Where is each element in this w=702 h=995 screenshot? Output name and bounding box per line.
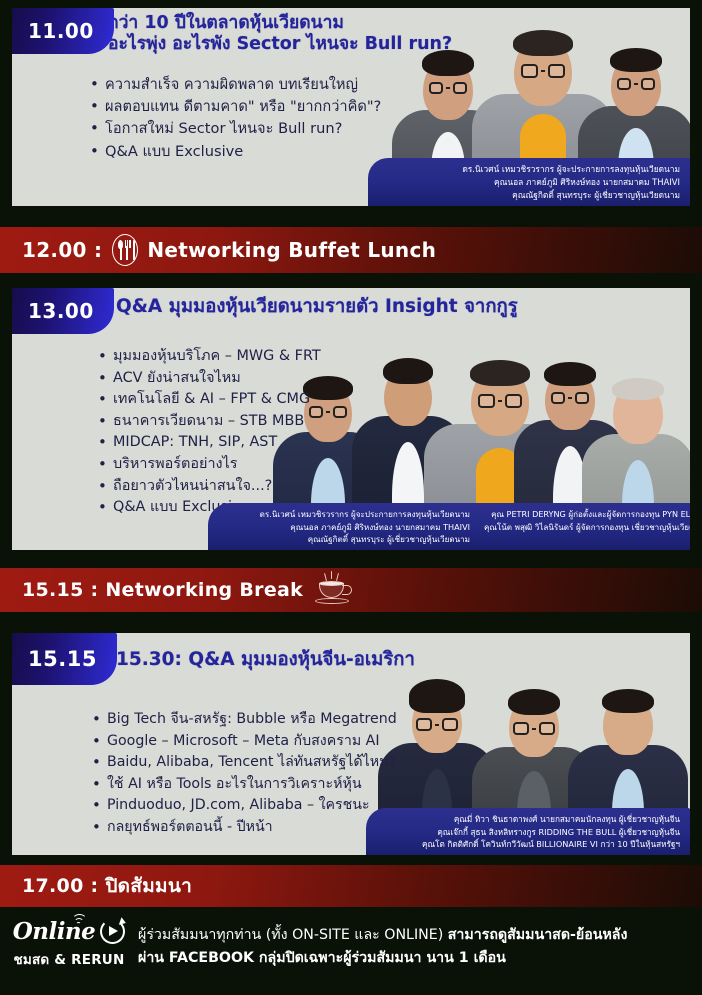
- bullet-item: โอกาสใหม่ Sector ไหนจะ Bull run?: [90, 118, 381, 140]
- credit-line: คุณ PETRI DERYNG ผู้ก่อตั้งและผู้จัดการก…: [484, 508, 690, 521]
- credits-column-left: ดร.นิเวศน์ เหมวชิรวรากร ผู้จะประกายการลง…: [234, 508, 484, 546]
- credit-line: ดร.นิเวศน์ เหมวชิรวรากร ผู้จะประกายการลง…: [396, 163, 680, 176]
- online-rerun-logo: Online ชมสด & RERUN: [0, 914, 138, 970]
- session-title-line2: อะไรพุ่ง อะไรพัง Sector ไหนจะ Bull run?: [108, 34, 452, 55]
- bullet-item: บริหารพอร์ตอย่างไร: [98, 454, 321, 476]
- bullet-item: ใช้ AI หรือ Tools อะไรในการวิเคราะห์หุ้น: [92, 774, 397, 796]
- bullet-item: Q&A แบบ Exclusive: [90, 141, 381, 163]
- closing-label: 17.00 : ปิดสัมมนา: [0, 871, 192, 901]
- coffee-cup-icon: [315, 573, 355, 607]
- session-title-line1: กว่า 10 ปีในตลาดหุ้นเวียดนาม: [108, 13, 452, 34]
- credit-line: คุณโน้ต พสุฒิ วิไลนิรันดร์ ผู้จัดการกองท…: [484, 521, 690, 534]
- credit-line: คุณนอล ภาคย์ภูมิ ศิริหงษ์ทอง นายกสมาคม T…: [396, 176, 680, 189]
- glasses-icon: [429, 82, 467, 94]
- footer: Online ชมสด & RERUN ผู้ร่วมสัมมนาทุกท่าน…: [0, 908, 702, 995]
- glasses-icon: [513, 722, 555, 735]
- bullet-item: Big Tech จีน-สหรัฐ: Bubble หรือ Megatren…: [92, 709, 397, 731]
- lunch-title: Networking Buffet Lunch: [147, 238, 436, 262]
- bullet-item: Pinduoduo, JD.com, Alibaba – ใครชนะ: [92, 795, 397, 817]
- break-bar-lunch: 12.00 : Networking Buffet Lunch: [0, 227, 702, 273]
- credit-line: คุณนอล ภาคย์ภูมิ ศิริหงษ์ทอง นายกสมาคม T…: [234, 521, 470, 534]
- credit-line: คุณเจ๊กกี้ สุธน สิงหลิทรางกูร RIDDING TH…: [394, 826, 680, 839]
- footer-line-1a: ผู้ร่วมสัมมนาทุกท่าน (ทั้ง ON-SITE และ O…: [138, 927, 448, 943]
- bullet-item: ความสำเร็จ ความผิดพลาด บทเรียนใหญ่: [90, 74, 381, 96]
- bullet-item: MIDCAP: TNH, SIP, AST: [98, 432, 321, 454]
- agenda-poster: 11.00 กว่า 10 ปีในตลาดหุ้นเวียดนาม อะไรพ…: [0, 0, 702, 995]
- session-bullets-1100: ความสำเร็จ ความผิดพลาด บทเรียนใหญ่ ผลตอบ…: [90, 74, 381, 163]
- session-card-1530: 15.15 15.30: Q&A มุมมองหุ้นจีน-อเมริกา B…: [12, 633, 690, 855]
- glasses-icon: [416, 718, 458, 731]
- play-rerun-icon: [100, 919, 125, 944]
- footer-line-2: ผ่าน FACEBOOK กลุ่มปิดเฉพาะผู้ร่วมสัมมนา…: [138, 947, 694, 970]
- wifi-icon: [74, 914, 90, 928]
- logo-row: Online: [0, 918, 138, 945]
- session-title-1300: Q&A มุมมองหุ้นเวียดนามรายตัว Insight จาก…: [116, 296, 518, 319]
- session-card-1100: 11.00 กว่า 10 ปีในตลาดหุ้นเวียดนาม อะไรพ…: [12, 8, 690, 206]
- session-title-1530: 15.30: Q&A มุมมองหุ้นจีน-อเมริกา: [116, 649, 415, 672]
- credits-column-right: คุณ PETRI DERYNG ผู้ก่อตั้งและผู้จัดการก…: [484, 508, 690, 546]
- bullet-item: Baidu, Alibaba, Tencent ไล่ทันสหรัฐได้ไห…: [92, 752, 397, 774]
- speaker-credits-1100: ดร.นิเวศน์ เหมวชิรวรากร ผู้จะประกายการลง…: [368, 158, 690, 206]
- footer-line-1b: สามารถดูสัมมนาสด-ย้อนหลัง: [448, 927, 628, 943]
- session-bullets-1530: Big Tech จีน-สหรัฐ: Bubble หรือ Megatren…: [92, 709, 397, 838]
- break-label: 15.15 : Networking Break: [0, 579, 303, 601]
- bullet-item: ธนาคารเวียดนาม – STB MBB: [98, 411, 321, 433]
- bullet-item: มุมมองหุ้นบริโภค – MWG & FRT: [98, 346, 321, 368]
- session-card-1300: 13.00 Q&A มุมมองหุ้นเวียดนามรายตัว Insig…: [12, 288, 690, 550]
- glasses-icon: [617, 78, 655, 90]
- credit-line: คุณณัฐกิตติ์ สุนทรบุระ ผู้เชี่ยวชาญหุ้นเ…: [396, 189, 680, 202]
- lunch-time-label: 12.00 :: [0, 238, 102, 262]
- bullet-item: Google – Microsoft – Meta กับสงคราม AI: [92, 731, 397, 753]
- bullet-item: ถือยาวตัวไหนน่าสนใจ...?: [98, 476, 321, 498]
- credit-line: ดร.นิเวศน์ เหมวชิรวรากร ผู้จะประกายการลง…: [234, 508, 470, 521]
- session-bullets-1300: มุมมองหุ้นบริโภค – MWG & FRT ACV ยังน่าส…: [98, 346, 321, 519]
- glasses-icon: [521, 64, 565, 78]
- credit-line: คุณณัฐกิตติ์ สุนทรบุระ ผู้เชี่ยวชาญหุ้นเ…: [234, 533, 470, 546]
- bullet-item: เทคโนโลยี & AI – FPT & CMG: [98, 389, 321, 411]
- credit-line: คุณมี่ ทิวา ชินธาดาพงศ์ นายกสมาคมนักลงทุ…: [394, 813, 680, 826]
- closing-bar: 17.00 : ปิดสัมมนา: [0, 865, 702, 907]
- session-time-1515: 15.15: [12, 633, 117, 685]
- footer-line-1: ผู้ร่วมสัมมนาทุกท่าน (ทั้ง ON-SITE และ O…: [138, 924, 694, 947]
- logo-subtitle: ชมสด & RERUN: [0, 948, 138, 970]
- footer-line-2-text: ผ่าน FACEBOOK กลุ่มปิดเฉพาะผู้ร่วมสัมมนา…: [138, 950, 506, 966]
- credit-line: คุณโต กิตติศักดิ์ โควินท์กวีวัฒน์ BILLIO…: [394, 838, 680, 851]
- break-bar-networking: 15.15 : Networking Break: [0, 568, 702, 612]
- bullet-item: ACV ยังน่าสนใจไหม: [98, 368, 321, 390]
- session-time-1100: 11.00: [12, 8, 114, 54]
- speaker-credits-1300: ดร.นิเวศน์ เหมวชิรวรากร ผู้จะประกายการลง…: [208, 503, 690, 550]
- cutlery-icon: [112, 234, 138, 266]
- session-title-1100: กว่า 10 ปีในตลาดหุ้นเวียดนาม อะไรพุ่ง อะ…: [108, 13, 452, 56]
- speaker-credits-1530: คุณมี่ ทิวา ชินธาดาพงศ์ นายกสมาคมนักลงทุ…: [366, 808, 690, 855]
- footer-note: ผู้ร่วมสัมมนาทุกท่าน (ทั้ง ON-SITE และ O…: [138, 914, 702, 970]
- bullet-item: ผลตอบแทน ดีตามคาด" หรือ "ยากกว่าคิด"?: [90, 96, 381, 118]
- bullet-item: กลยุทธ์พอร์ตตอนนี้ - ปีหน้า: [92, 817, 397, 839]
- session-time-1300: 13.00: [12, 288, 114, 334]
